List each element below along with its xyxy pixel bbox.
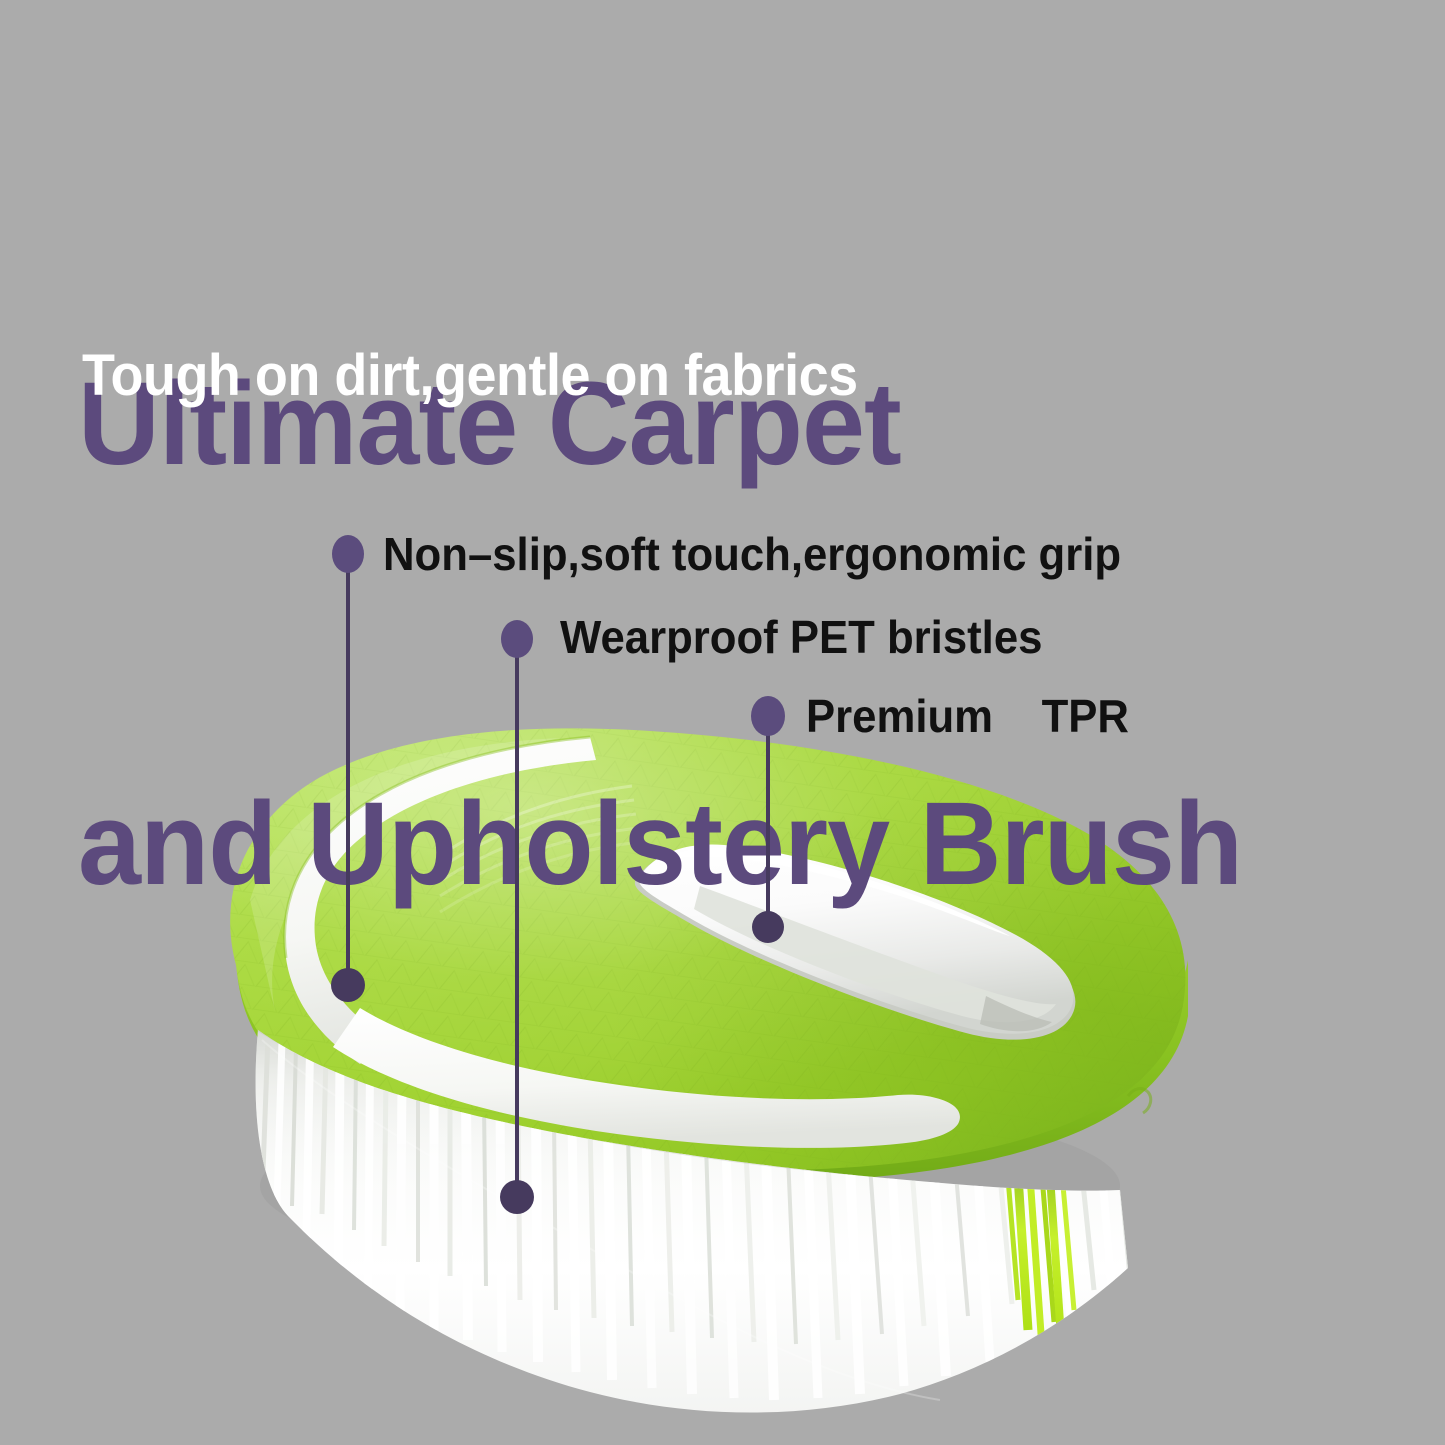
callout-label-bristles: Wearproof PET bristles	[560, 612, 1042, 662]
page-subtitle: Tough on dirt,gentle on fabrics	[82, 345, 858, 407]
infographic-canvas: Ultimate Carpet and Upholstery Brush Tou…	[0, 0, 1445, 1445]
callout-label-tpr: Premium TPR	[806, 691, 1129, 741]
page-title-line-2: and Upholstery Brush	[78, 774, 1345, 914]
callout-label-grip: Non–slip,soft touch,ergonomic grip	[383, 529, 1121, 579]
